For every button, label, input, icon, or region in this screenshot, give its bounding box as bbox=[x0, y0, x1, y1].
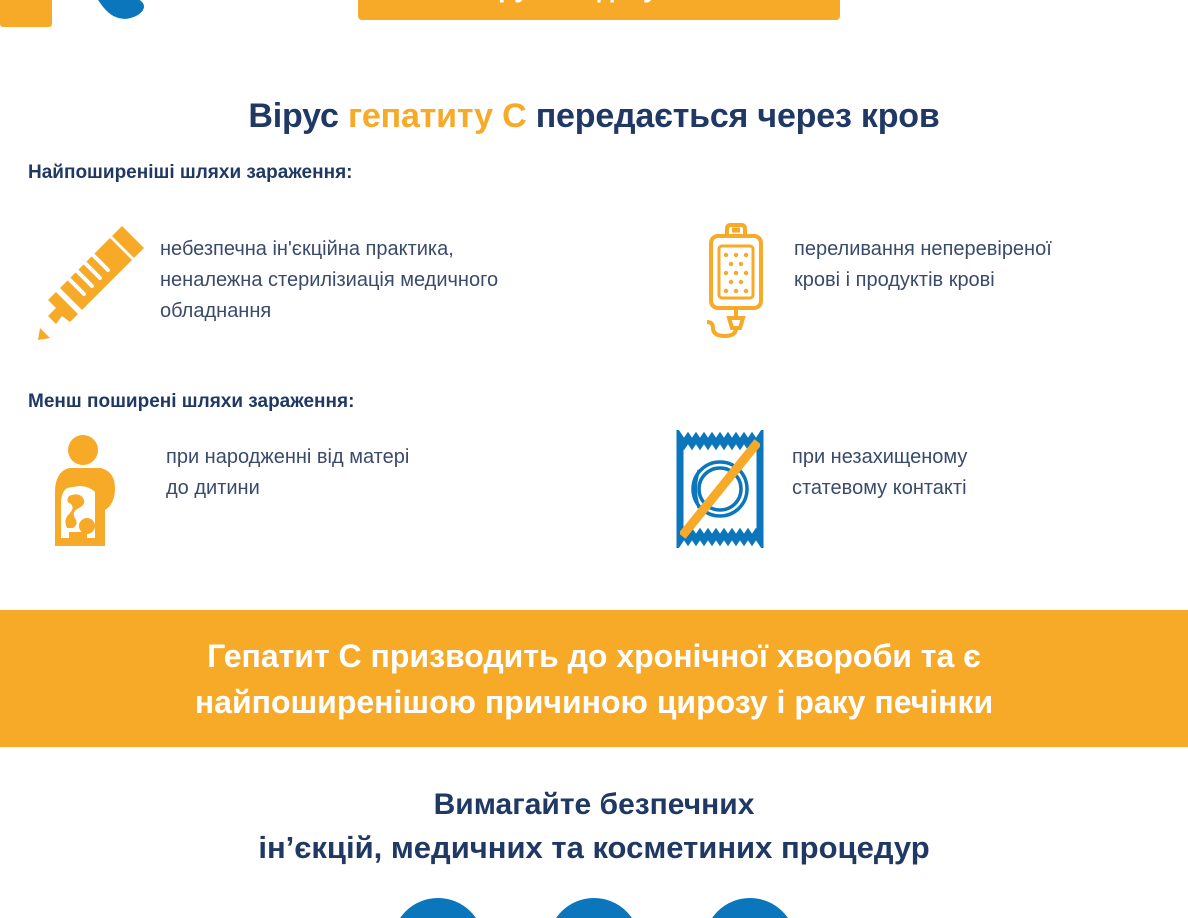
headline-accent: гепатиту С bbox=[348, 97, 526, 135]
route-text-unscreened-blood: переливання неперевіреної крові і продук… bbox=[794, 222, 1052, 296]
route-line: неналежна стерилізиація медичного bbox=[160, 265, 498, 296]
top-banner-text: Вірус є підступним bbox=[358, 0, 840, 20]
page-title: Вірус гепатиту С передається через кров bbox=[0, 97, 1188, 136]
route-text-mother-to-child: при народженні від матері до дитини bbox=[166, 434, 409, 504]
route-line: статевому контакті bbox=[792, 473, 967, 504]
top-header-strip: Вірус є підступним bbox=[0, 0, 1188, 46]
route-line: обладнання bbox=[160, 296, 498, 327]
route-item-unprotected-sex: при незахищеному статевому контакті bbox=[668, 430, 1148, 550]
mother-and-child-icon-wrap bbox=[46, 434, 132, 554]
section-heading-less-common-routes: Менш поширені шляхи зараження: bbox=[28, 391, 354, 413]
orange-tab-marker bbox=[0, 0, 52, 27]
cta-line-2: ін’єкцій, медичних та косметиних процеду… bbox=[0, 826, 1188, 869]
cta-line-1: Вимагайте безпечних bbox=[0, 783, 1188, 826]
syringe-icon bbox=[36, 222, 148, 340]
route-line: переливання неперевіреної bbox=[794, 234, 1052, 265]
bubble-icon bbox=[548, 898, 640, 918]
route-line: небезпечна ін'єкційна практика, bbox=[160, 234, 498, 265]
route-item-unsafe-injection: небезпечна ін'єкційна практика, неналежн… bbox=[34, 222, 674, 342]
route-line: до дитини bbox=[166, 473, 409, 504]
condom-crossed-icon bbox=[668, 430, 772, 548]
callout-banner: Гепатит С призводить до хронічної хвороб… bbox=[0, 610, 1188, 747]
route-item-unscreened-blood: переливання неперевіреної крові і продук… bbox=[698, 222, 1168, 342]
condom-crossed-icon-wrap bbox=[668, 430, 772, 550]
route-text-unsafe-injection: небезпечна ін'єкційна практика, неналежн… bbox=[160, 222, 498, 327]
bubble-icon bbox=[704, 898, 796, 918]
call-to-action: Вимагайте безпечних ін’єкцій, медичних т… bbox=[0, 783, 1188, 869]
route-line: при незахищеному bbox=[792, 442, 967, 473]
route-text-unprotected-sex: при незахищеному статевому контакті bbox=[792, 430, 967, 504]
blood-bag-icon-wrap bbox=[698, 222, 776, 342]
route-line: крові і продуктів крові bbox=[794, 265, 1052, 296]
mother-and-child-icon bbox=[49, 434, 129, 552]
section-heading-common-routes: Найпоширеніші шляхи зараження: bbox=[28, 162, 353, 184]
syringe-icon-wrap bbox=[34, 222, 150, 342]
bubble-icon bbox=[392, 898, 484, 918]
bottom-bubble-row bbox=[0, 898, 1188, 918]
callout-line-2: найпоширенішою причиною цирозу і раку пе… bbox=[195, 679, 993, 725]
headline-part-after: передається через кров bbox=[526, 97, 939, 135]
blood-bag-icon bbox=[701, 222, 773, 338]
route-item-mother-to-child: при народженні від матері до дитини bbox=[46, 434, 646, 554]
liver-logo-icon bbox=[72, 0, 190, 39]
route-line: при народженні від матері bbox=[166, 442, 409, 473]
callout-line-1: Гепатит С призводить до хронічної хвороб… bbox=[207, 633, 981, 679]
headline-part-before: Вірус bbox=[248, 97, 348, 135]
